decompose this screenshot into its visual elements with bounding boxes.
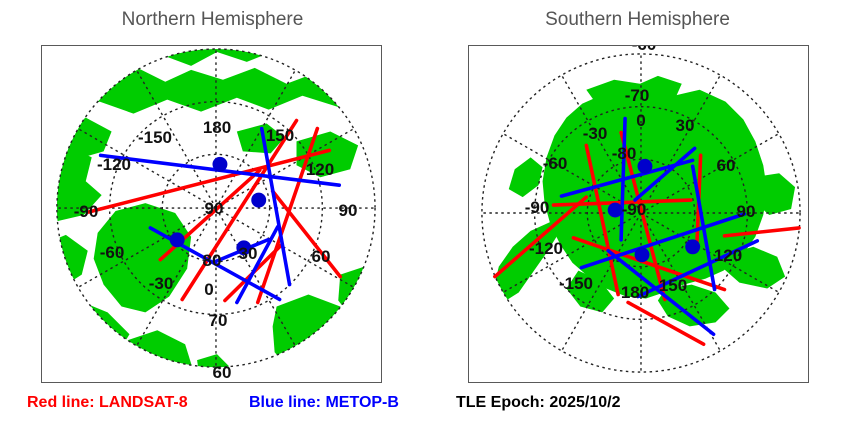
- lon-label-30-south: 30: [676, 116, 695, 136]
- lon-label-n60-south: -60: [543, 154, 568, 174]
- lon-label-150-north: 150: [266, 126, 294, 146]
- polar-plot-northern[interactable]: 180 -150 150 -120 120 -90 90 -60 60 -30 …: [41, 45, 382, 383]
- lat-label-n70-south: -70: [625, 86, 650, 106]
- lon-label-120-south: 120: [714, 246, 742, 266]
- lat-label-90-north: 90: [205, 199, 224, 219]
- legend-red-line-landsat8: Red line: LANDSAT-8: [27, 394, 188, 412]
- lon-label-90-north: 90: [339, 201, 358, 221]
- polar-plot-southern[interactable]: -60 -70 -80 -90 0 30 60 90 120 150 180 -…: [468, 45, 809, 383]
- page-title-southern: Southern Hemisphere: [425, 9, 850, 31]
- lon-label-60-north: 60: [312, 247, 331, 267]
- lon-label-n90-south: -90: [525, 198, 550, 218]
- lon-label-n150-north: -150: [138, 128, 172, 148]
- lat-label-70-north: 70: [209, 311, 228, 331]
- panel-southern-hemisphere: Southern Hemisphere: [425, 0, 850, 390]
- lon-label-120-north: 120: [306, 160, 334, 180]
- lon-label-n150-south: -150: [559, 274, 593, 294]
- lon-label-n60-north: -60: [100, 243, 125, 263]
- lon-label-n30-north: -30: [149, 274, 174, 294]
- page-title-northern: Northern Hemisphere: [0, 9, 425, 31]
- lat-label-80-north: 80: [203, 251, 222, 271]
- legend: Red line: LANDSAT-8 Blue line: METOP-B T…: [0, 390, 850, 425]
- lon-label-0-north: 0: [204, 280, 213, 300]
- lon-label-n90-north: -90: [74, 202, 99, 222]
- lon-label-90-south: 90: [737, 202, 756, 222]
- lon-label-n120-north: -120: [97, 155, 131, 175]
- lon-label-n120-south: -120: [529, 239, 563, 259]
- lon-label-180-north: 180: [203, 118, 231, 138]
- lon-label-n30-south: -30: [583, 124, 608, 144]
- lat-label-n90-south: -90: [622, 200, 647, 220]
- lat-label-n80-south: -80: [612, 144, 637, 164]
- lon-label-0-south: 0: [636, 111, 645, 131]
- lat-label-60-north: 60: [213, 363, 232, 383]
- lon-label-150-south: 150: [659, 276, 687, 296]
- lon-label-30-north: 30: [239, 244, 258, 264]
- lon-label-180-south: 180: [621, 283, 649, 303]
- legend-blue-line-metopb: Blue line: METOP-B: [249, 394, 399, 412]
- lat-label-n60-south: -60: [632, 45, 657, 55]
- lon-label-60-south: 60: [717, 156, 736, 176]
- legend-tle-epoch: TLE Epoch: 2025/10/2: [456, 394, 621, 412]
- panel-northern-hemisphere: Northern Hemisphere: [0, 0, 425, 390]
